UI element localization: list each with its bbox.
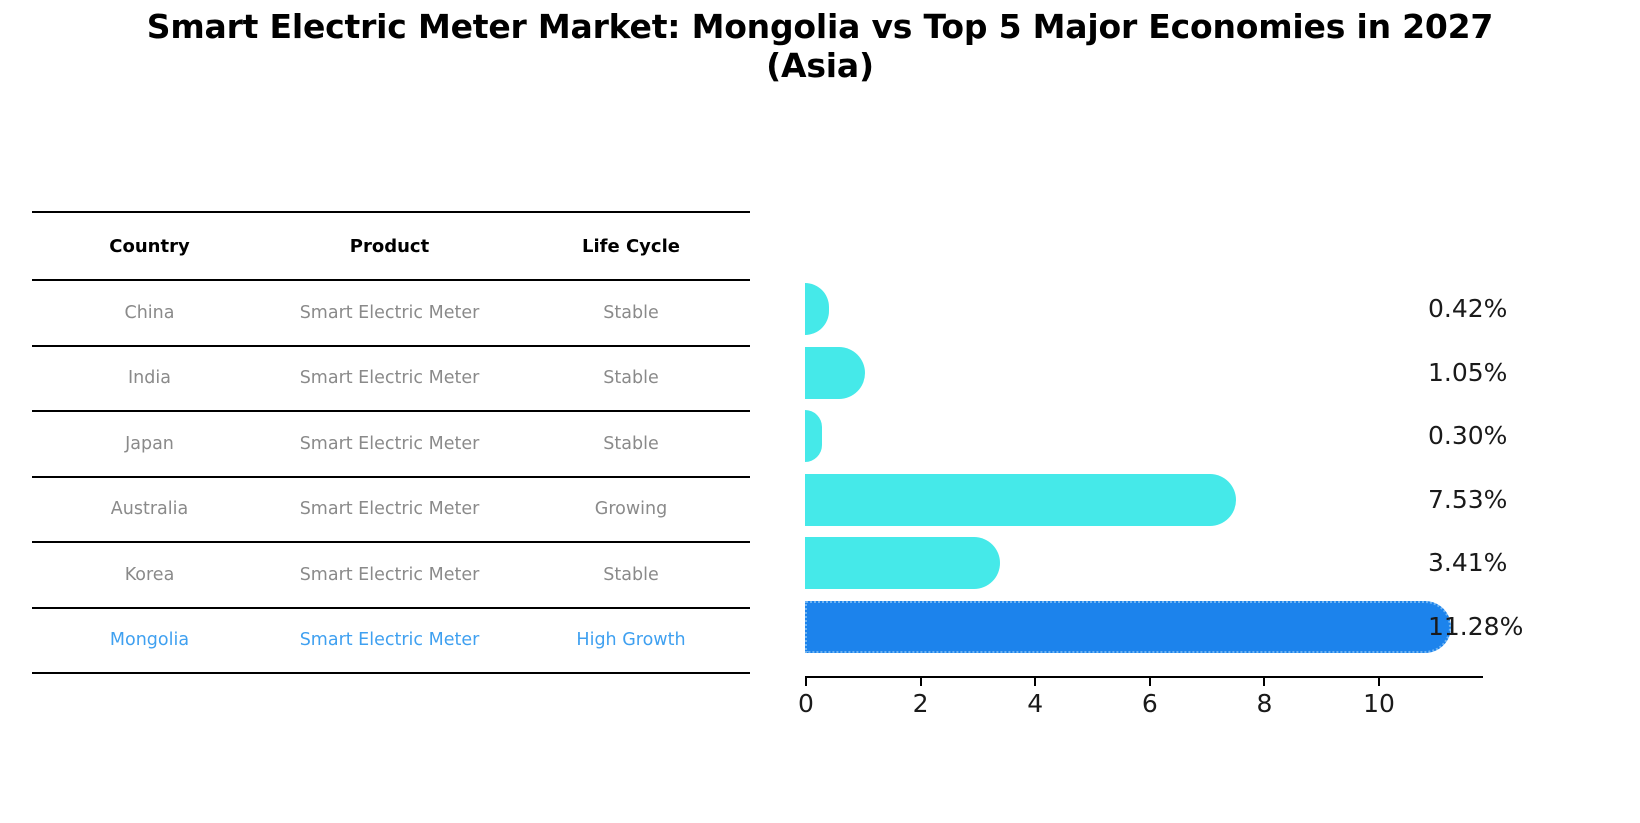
product-cell: Smart Electric Meter	[267, 280, 512, 346]
x-axis-tick	[1378, 676, 1380, 686]
page-title: Smart Electric Meter Market: Mongolia vs…	[0, 8, 1640, 86]
table-row: ChinaSmart Electric MeterStable	[32, 280, 750, 346]
x-axis-tick-label: 10	[1363, 689, 1395, 718]
bar-value-label: 3.41%	[1428, 537, 1507, 589]
product-cell: Smart Electric Meter	[267, 608, 512, 674]
table-row: AustraliaSmart Electric MeterGrowing	[32, 477, 750, 543]
life-cycle-cell: Stable	[512, 346, 750, 412]
life-cycle-cell: High Growth	[512, 608, 750, 674]
country-cell: Japan	[32, 411, 267, 477]
page-title-line1: Smart Electric Meter Market: Mongolia vs…	[147, 7, 1493, 46]
life-cycle-cell: Growing	[512, 477, 750, 543]
life-cycle-cell: Stable	[512, 280, 750, 346]
table-row: JapanSmart Electric MeterStable	[32, 411, 750, 477]
country-cell: Australia	[32, 477, 267, 543]
bar-china	[805, 283, 829, 335]
bar-india	[805, 347, 865, 399]
product-cell: Smart Electric Meter	[267, 346, 512, 412]
country-cell: India	[32, 346, 267, 412]
x-axis-tick	[1034, 676, 1036, 686]
product-cell: Smart Electric Meter	[267, 411, 512, 477]
table-row: IndiaSmart Electric MeterStable	[32, 346, 750, 412]
bar-value-label: 7.53%	[1428, 474, 1507, 526]
column-header-life-cycle: Life Cycle	[512, 212, 750, 280]
x-axis-tick	[1149, 676, 1151, 686]
country-cell: Korea	[32, 542, 267, 608]
x-axis-tick-label: 6	[1142, 689, 1158, 718]
table-head: Country Product Life Cycle	[32, 212, 750, 280]
x-axis-tick-label: 0	[798, 689, 814, 718]
page-title-line2: (Asia)	[0, 47, 1640, 86]
table-row: KoreaSmart Electric MeterStable	[32, 542, 750, 608]
bar-value-label: 1.05%	[1428, 347, 1507, 399]
x-axis-tick	[920, 676, 922, 686]
table-header-row: Country Product Life Cycle	[32, 212, 750, 280]
bar-value-label: 11.28%	[1428, 601, 1523, 653]
product-cell: Smart Electric Meter	[267, 542, 512, 608]
bar-value-label: 0.42%	[1428, 283, 1507, 335]
x-axis-tick	[805, 676, 807, 686]
x-axis-tick-label: 8	[1256, 689, 1272, 718]
bar-japan	[805, 410, 822, 462]
bar-australia	[805, 474, 1236, 526]
life-cycle-cell: Stable	[512, 542, 750, 608]
life-cycle-cell: Stable	[512, 411, 750, 477]
country-cell: Mongolia	[32, 608, 267, 674]
table-row: MongoliaSmart Electric MeterHigh Growth	[32, 608, 750, 674]
x-axis-tick-label: 2	[913, 689, 929, 718]
bar-value-label: 0.30%	[1428, 410, 1507, 462]
product-cell: Smart Electric Meter	[267, 477, 512, 543]
bar-highlight-mongolia	[805, 601, 1451, 653]
table-body: ChinaSmart Electric MeterStableIndiaSmar…	[32, 280, 750, 673]
country-table-panel: Country Product Life Cycle ChinaSmart El…	[32, 211, 750, 674]
x-axis-tick-label: 4	[1027, 689, 1043, 718]
x-axis-tick	[1263, 676, 1265, 686]
country-cell: China	[32, 280, 267, 346]
bar-korea	[805, 537, 1000, 589]
column-header-country: Country	[32, 212, 267, 280]
x-axis-line	[805, 676, 1378, 678]
country-table: Country Product Life Cycle ChinaSmart El…	[32, 211, 750, 674]
column-header-product: Product	[267, 212, 512, 280]
x-axis-line-extension	[1378, 676, 1483, 678]
